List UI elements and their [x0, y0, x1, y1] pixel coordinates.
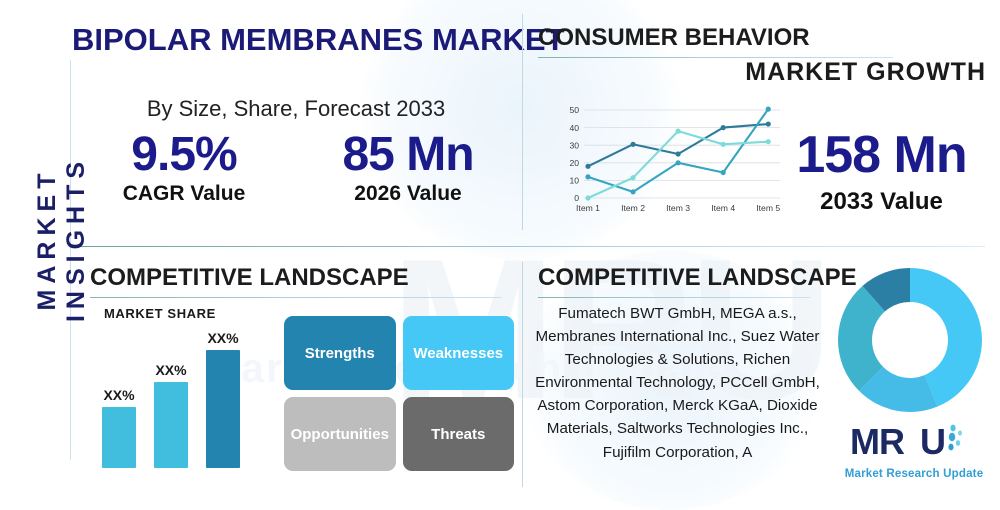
svg-text:Item 1: Item 1: [576, 203, 600, 213]
swot-opportunities-label: Opportunities: [291, 426, 389, 443]
svg-text:U: U: [920, 422, 945, 462]
swot-strengths-label: Strengths: [305, 345, 375, 362]
divider-vertical-bottom: [522, 262, 523, 487]
stat-2026: 85 Mn 2026 Value: [296, 130, 520, 206]
stat-cagr: 9.5% CAGR Value: [72, 130, 296, 206]
brand-logo: MR U Market Research Update: [834, 422, 994, 480]
section-rule-competitive-landscape-left: [90, 297, 502, 298]
svg-text:Item 2: Item 2: [621, 203, 645, 213]
swot-strengths[interactable]: Strengths: [284, 316, 396, 390]
bar-value-label: XX%: [154, 362, 188, 378]
svg-text:30: 30: [569, 140, 579, 150]
panel-consumer-behavior: CONSUMER BEHAVIOR MARKET GROWTH 01020304…: [524, 10, 994, 244]
svg-text:MR: MR: [850, 422, 905, 462]
section-heading-consumer-behavior: CONSUMER BEHAVIOR: [538, 24, 810, 52]
side-label-market-insights: MARKET INSIGHTS: [33, 89, 91, 389]
company-list: Fumatech BWT GmbH, MEGA a.s., Membranes …: [530, 302, 825, 464]
swot-threats-label: Threats: [431, 426, 485, 443]
infographic-canvas: MRU Market Research Update MARKET INSIGH…: [0, 0, 1000, 500]
section-heading-competitive-landscape-right: COMPETITIVE LANDSCAPE: [538, 264, 857, 292]
swot-weaknesses-label: Weaknesses: [413, 345, 503, 362]
svg-text:0: 0: [574, 193, 579, 203]
panel-competitive-landscape-left: COMPETITIVE LANDSCAPE MARKET SHARE XX%XX…: [72, 250, 520, 494]
swot-threats[interactable]: Threats: [403, 397, 515, 471]
section-heading-competitive-landscape-left: COMPETITIVE LANDSCAPE: [90, 264, 409, 292]
line-chart-consumer-behavior: 01020304050Item 1Item 2Item 3Item 4Item …: [554, 102, 784, 222]
swot-weaknesses[interactable]: Weaknesses: [403, 316, 515, 390]
stat-cagr-caption: CAGR Value: [72, 182, 296, 206]
svg-text:Item 4: Item 4: [711, 203, 735, 213]
growth-caption: 2033 Value: [769, 188, 994, 216]
divider-horizontal: [75, 246, 985, 247]
stat-2026-value: 85 Mn: [296, 130, 520, 180]
bar-rect: [102, 407, 136, 468]
panel-market-overview: BIPOLAR MEMBRANES MARKET By Size, Share,…: [72, 10, 520, 244]
stat-group: 9.5% CAGR Value 85 Mn 2026 Value: [72, 130, 520, 206]
divider-vertical-top: [522, 14, 523, 230]
mru-logo-icon: MR U: [848, 422, 980, 462]
brand-logo-tagline: Market Research Update: [834, 468, 994, 480]
line-chart-svg: 01020304050Item 1Item 2Item 3Item 4Item …: [554, 102, 784, 222]
panel-competitive-landscape-right: COMPETITIVE LANDSCAPE Fumatech BWT GmbH,…: [524, 250, 994, 494]
svg-text:50: 50: [569, 105, 579, 115]
section-heading-market-growth: MARKET GROWTH: [745, 58, 986, 87]
growth-value: 158 Mn: [769, 125, 994, 185]
swot-grid: Strengths Weaknesses Opportunities Threa…: [284, 316, 514, 471]
bar-column: XX%: [102, 387, 136, 468]
donut-chart-market-share: [830, 260, 990, 420]
bar-rect: [154, 382, 188, 468]
page-subtitle: By Size, Share, Forecast 2033: [72, 96, 520, 122]
bar-chart-title: MARKET SHARE: [104, 306, 216, 321]
bar-rect: [206, 350, 240, 468]
svg-text:40: 40: [569, 123, 579, 133]
page-title: BIPOLAR MEMBRANES MARKET: [72, 22, 520, 58]
svg-text:Item 3: Item 3: [666, 203, 690, 213]
swot-opportunities[interactable]: Opportunities: [284, 397, 396, 471]
svg-text:20: 20: [569, 158, 579, 168]
bar-column: XX%: [206, 330, 240, 468]
bar-value-label: XX%: [102, 387, 136, 403]
stat-cagr-value: 9.5%: [72, 130, 296, 180]
stat-2026-caption: 2026 Value: [296, 182, 520, 206]
bar-chart-market-share: XX%XX%XX%: [102, 328, 277, 468]
donut-chart-svg: [830, 260, 990, 420]
bar-value-label: XX%: [206, 330, 240, 346]
section-rule-competitive-landscape-right: [538, 297, 810, 298]
svg-text:10: 10: [569, 176, 579, 186]
bar-column: XX%: [154, 362, 188, 468]
